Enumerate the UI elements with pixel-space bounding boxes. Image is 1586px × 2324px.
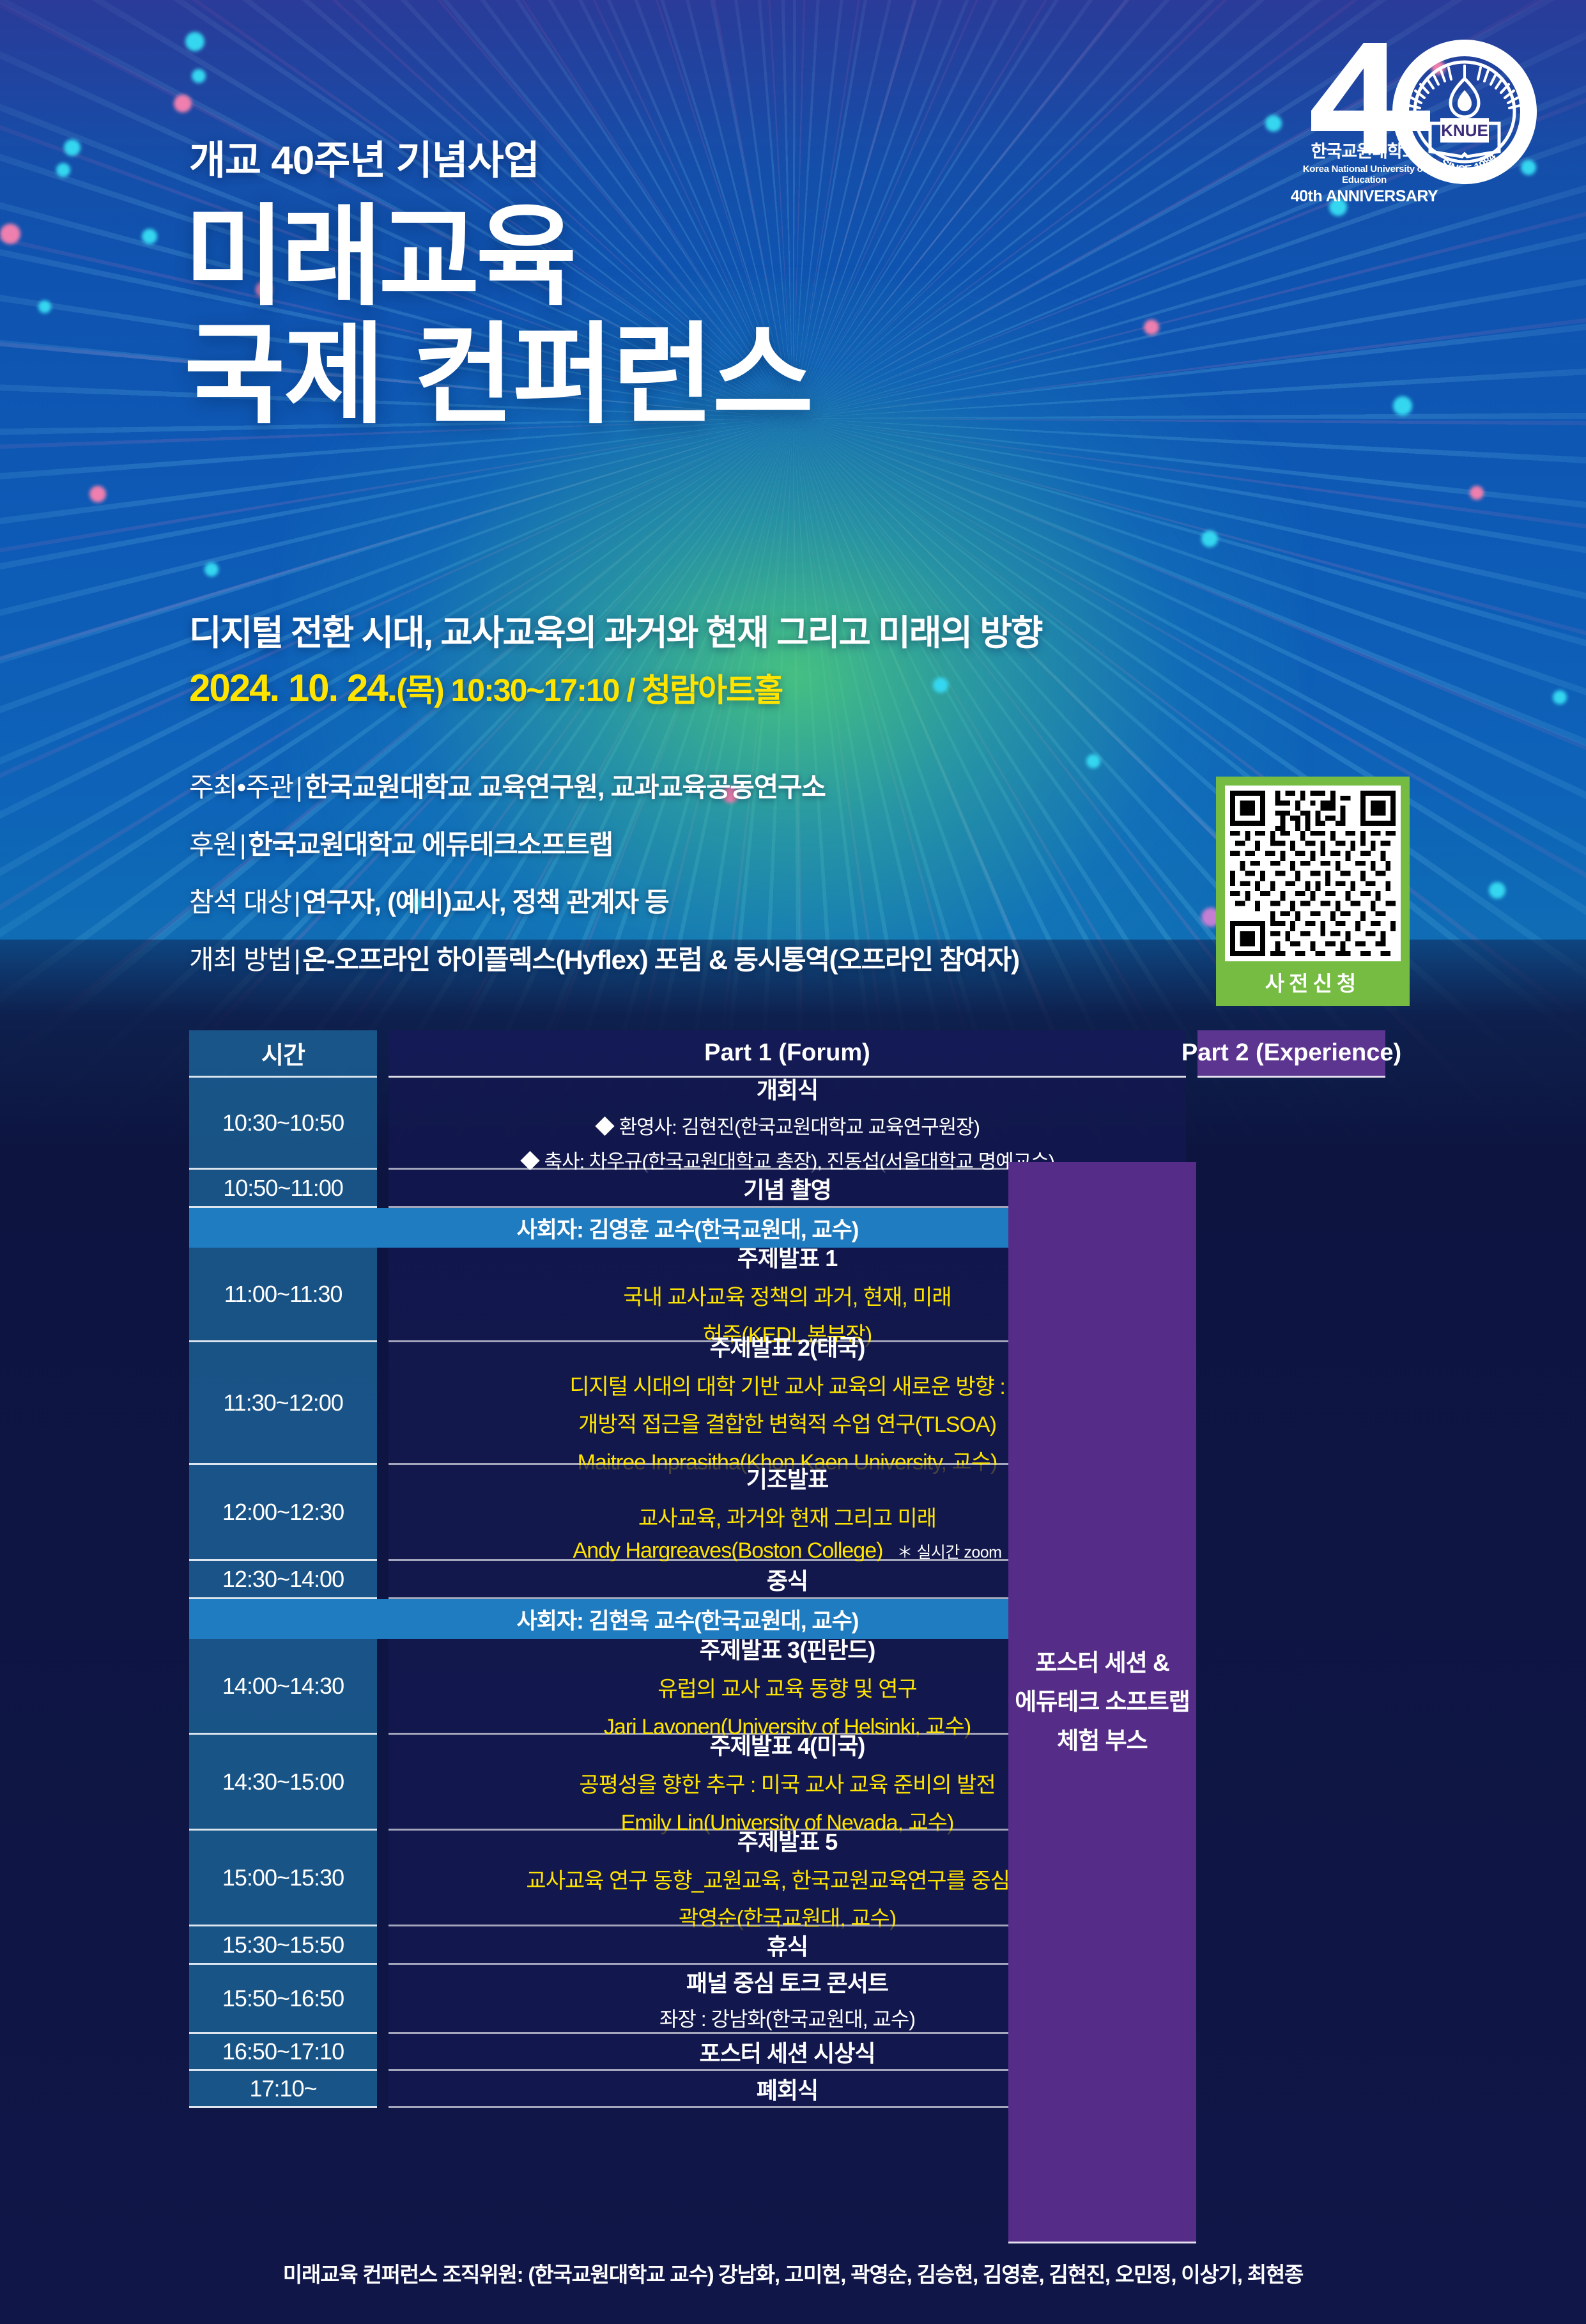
table-row: 15:30~15:50 휴식 [189, 1926, 1385, 1965]
table-row: 14:30~15:00 주제발표 4(미국) 공평성을 향한 추구 : 미국 교… [189, 1735, 1385, 1831]
table-row: 12:30~14:00 중식 [189, 1561, 1385, 1599]
session-title: 개회식 [757, 1072, 818, 1105]
session-title: 폐회식 [757, 2072, 818, 2105]
logo-emblem-text: KNUE [1441, 121, 1488, 140]
part2-line1: 포스터 세션 & [1015, 1643, 1190, 1682]
part2-spacer [1197, 1831, 1385, 1926]
info-label: 참석 대상 [189, 887, 291, 917]
schedule-table: 시간 Part 1 (Forum) Part 2 (Experience) 10… [189, 1030, 1385, 2108]
row-time: 15:00~15:30 [189, 1831, 377, 1926]
part2-spacer [1197, 1639, 1385, 1735]
part2-spacer [1197, 1735, 1385, 1831]
table-row: 12:00~12:30 기조발표 교사교육, 과거와 현재 그리고 미래 And… [189, 1465, 1385, 1561]
row-time: 10:50~11:00 [189, 1170, 377, 1208]
page-title-line2: 국제 컨퍼런스 [184, 323, 1181, 428]
info-row-host: 주최•주관|한국교원대학교 교육연구원, 교과교육공동연구소 [189, 766, 1019, 805]
row-time: 14:00~14:30 [189, 1639, 377, 1735]
logo-anniversary: 40th ANNIVERSARY [1284, 187, 1444, 206]
part2-spacer [1197, 1170, 1385, 1208]
row-time: 10:30~10:50 [189, 1078, 377, 1170]
event-date: 2024. 10. 24. [189, 667, 396, 709]
table-row: 14:00~14:30 주제발표 3(핀란드) 유럽의 교사 교육 동향 및 연… [189, 1639, 1385, 1735]
row-content: 개회식 ◆ 환영사: 김현진(한국교원대학교 교육연구원장) ◆ 축사: 차우규… [389, 1078, 1186, 1170]
event-time-venue: (목) 10:30~17:10 / 청람아트홀 [396, 672, 782, 708]
row-time: 17:10~ [189, 2071, 377, 2108]
part2-spacer [1197, 1561, 1385, 1599]
part2-spacer [1197, 2034, 1385, 2071]
row-time: 16:50~17:10 [189, 2034, 377, 2071]
session-title: 기조발표 [746, 1461, 828, 1494]
qr-code-icon[interactable] [1225, 786, 1401, 961]
session-title: 휴식 [767, 1928, 808, 1962]
logo-name-en: Korea National University of Education [1284, 164, 1444, 185]
table-row: 10:30~10:50 개회식 ◆ 환영사: 김현진(한국교원대학교 교육연구원… [189, 1078, 1385, 1170]
session-title: 주제발표 4(미국) [710, 1728, 865, 1761]
knue-anniversary-logo: KNUE SINCE 1984 한국교원대학교 Korea National U… [1279, 35, 1548, 195]
part2-spacer [1197, 2071, 1385, 2108]
info-separator: | [291, 887, 303, 917]
session-detail: 개방적 접근을 결합한 변혁적 수업 연구(TLSOA) [578, 1407, 996, 1438]
session-speaker: Andy Hargreaves(Boston College) [573, 1538, 883, 1563]
table-row: 17:10~ 폐회식 [189, 2071, 1385, 2108]
info-separator: | [291, 945, 303, 975]
table-row: 15:50~16:50 패널 중심 토크 콘서트 좌장 : 강남화(한국교원대,… [189, 1965, 1385, 2034]
qr-label[interactable]: 사전신청 [1216, 961, 1410, 1006]
logo-caption: 한국교원대학교 Korea National University of Edu… [1284, 137, 1444, 206]
part2-spacer [1197, 1926, 1385, 1965]
table-row: 11:00~11:30 주제발표 1 국내 교사교육 정책의 과거, 현재, 미… [189, 1248, 1385, 1342]
part2-spacer [1197, 1248, 1385, 1342]
page-subtitle: 디지털 전환 시대, 교사교육의 과거와 현재 그리고 미래의 방향 [189, 604, 1042, 655]
session-title: 기념 촬영 [743, 1172, 831, 1205]
qr-frame [1216, 777, 1410, 961]
session-chair: 좌장 : 강남화(한국교원대, 교수) [659, 2003, 915, 2033]
info-label: 후원 [189, 830, 237, 860]
session-bullet: ◆ 환영사: 김현진(한국교원대학교 교육연구원장) [595, 1111, 980, 1140]
column-header-part2: Part 2 (Experience) [1197, 1030, 1385, 1078]
part2-spacer [1197, 1465, 1385, 1561]
session-detail: 공평성을 향한 추구 : 미국 교사 교육 준비의 발전 [579, 1767, 995, 1799]
row-time: 12:30~14:00 [189, 1561, 377, 1599]
column-header-part1: Part 1 (Forum) [389, 1030, 1186, 1078]
info-value: 연구자, (예비)교사, 정책 관계자 등 [302, 887, 668, 917]
info-value: 한국교원대학교 에듀테크소프트랩 [248, 830, 612, 860]
session-speaker-row: Andy Hargreaves(Boston College) ＊ 실시간 zo… [573, 1532, 1002, 1563]
info-value: 한국교원대학교 교육연구원, 교과교육공동연구소 [304, 772, 825, 802]
registration-qr-block[interactable]: 사전신청 [1216, 777, 1410, 1006]
info-separator: | [237, 830, 249, 860]
page-eyebrow: 개교 40주년 기념사업 [189, 128, 539, 185]
table-header-row: 시간 Part 1 (Forum) Part 2 (Experience) [189, 1030, 1385, 1078]
row-time: 14:30~15:00 [189, 1735, 377, 1831]
session-detail: 유럽의 교사 교육 동향 및 연구 [658, 1671, 917, 1703]
logo-name-ko: 한국교원대학교 [1284, 137, 1444, 162]
part2-session-body: 포스터 세션 & 에듀테크 소프트랩 체험 부스 [1008, 1162, 1196, 2243]
part2-line2: 에듀테크 소프트랩 [1015, 1682, 1190, 1721]
session-detail: 디지털 시대의 대학 기반 교사 교육의 새로운 방향 : [569, 1369, 1005, 1400]
row-time: 11:30~12:00 [189, 1342, 377, 1465]
info-label: 주최•주관 [189, 772, 293, 802]
table-row: 10:50~11:00 기념 촬영 [189, 1170, 1385, 1208]
session-title: 패널 중심 토크 콘서트 [686, 1965, 888, 1998]
info-row-audience: 참석 대상|연구자, (예비)교사, 정책 관계자 등 [189, 881, 1019, 920]
session-title: 포스터 세션 시상식 [700, 2035, 875, 2068]
info-row-sponsor: 후원|한국교원대학교 에듀테크소프트랩 [189, 823, 1019, 862]
row-time: 12:00~12:30 [189, 1465, 377, 1561]
part2-spacer [1197, 1965, 1385, 2034]
session-title: 중식 [767, 1563, 808, 1596]
organizing-committee-footer: 미래교육 컨퍼런스 조직위원: (한국교원대학교 교수) 강남화, 고미현, 곽… [0, 2258, 1586, 2288]
info-value: 온-오프라인 하이플렉스(Hyflex) 포럼 & 동시통역(오프라인 참여자) [302, 945, 1019, 975]
table-row: 16:50~17:10 포스터 세션 시상식 [189, 2034, 1385, 2071]
table-row: 11:30~12:00 주제발표 2(태국) 디지털 시대의 대학 기반 교사 … [189, 1342, 1385, 1465]
row-time: 15:50~16:50 [189, 1965, 377, 2034]
session-title: 주제발표 5 [737, 1824, 838, 1857]
session-detail: 교사교육, 과거와 현재 그리고 미래 [638, 1501, 936, 1532]
part2-spacer [1197, 1078, 1385, 1170]
info-separator: | [293, 772, 305, 802]
session-note: ＊ 실시간 zoom [897, 1540, 1001, 1563]
table-row: 15:00~15:30 주제발표 5 교사교육 연구 동향_교원교육, 한국교원… [189, 1831, 1385, 1926]
session-detail: 교사교육 연구 동향_교원교육, 한국교원교육연구를 중심으로 [526, 1863, 1048, 1894]
column-header-time: 시간 [189, 1030, 377, 1078]
event-datetime: 2024. 10. 24.(목) 10:30~17:10 / 청람아트홀 [189, 665, 782, 711]
info-label: 개최 방법 [189, 945, 291, 975]
row-time: 15:30~15:50 [189, 1926, 377, 1965]
event-info-block: 주최•주관|한국교원대학교 교육연구원, 교과교육공동연구소 후원|한국교원대학… [189, 766, 1019, 996]
session-detail: 국내 교사교육 정책의 과거, 현재, 미래 [623, 1280, 951, 1311]
row-time: 11:00~11:30 [189, 1248, 377, 1342]
part2-line3: 체험 부스 [1015, 1721, 1190, 1760]
info-row-format: 개최 방법|온-오프라인 하이플렉스(Hyflex) 포럼 & 동시통역(오프라… [189, 938, 1019, 977]
session-title: 주제발표 2(태국) [710, 1329, 865, 1363]
part2-text: 포스터 세션 & 에듀테크 소프트랩 체험 부스 [1015, 1643, 1190, 1760]
part2-spacer [1197, 1342, 1385, 1465]
page-title: 미래교육 국제 컨퍼런스 [184, 205, 1181, 428]
page-title-line1: 미래교육 [184, 196, 573, 318]
